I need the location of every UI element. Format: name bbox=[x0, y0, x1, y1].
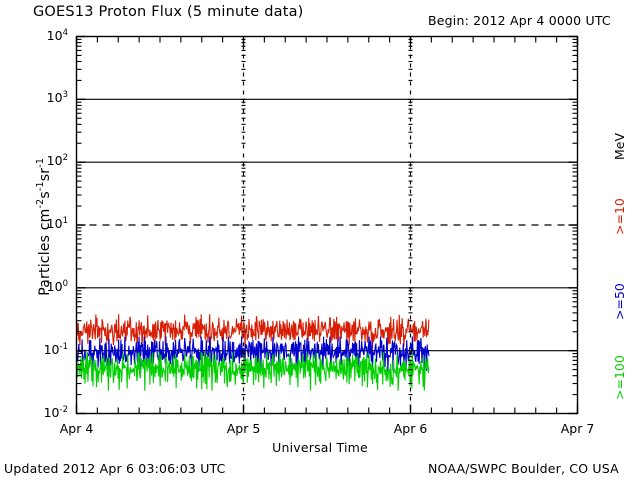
chart-canvas: GOES13 Proton Flux (5 minute data) Begin… bbox=[0, 0, 640, 480]
plot-area bbox=[0, 0, 640, 480]
